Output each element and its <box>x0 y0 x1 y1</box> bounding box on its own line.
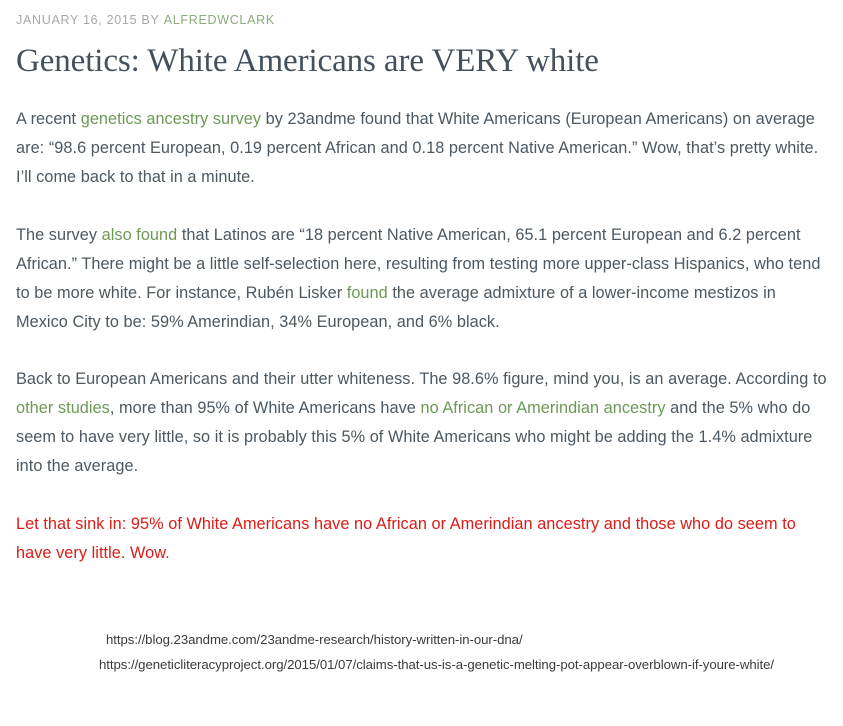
p3-text-a: Back to European Americans and their utt… <box>16 370 827 388</box>
entry-content: A recent genetics ancestry survey by 23a… <box>16 105 827 568</box>
paragraph-3: Back to European Americans and their utt… <box>16 365 827 481</box>
source-url-2: https://geneticliteracyproject.org/2015/… <box>99 652 827 677</box>
link-genetics-ancestry-survey[interactable]: genetics ancestry survey <box>81 110 261 128</box>
paragraph-1: A recent genetics ancestry survey by 23a… <box>16 105 827 192</box>
source-url-list: https://blog.23andme.com/23andme-researc… <box>16 627 827 677</box>
paragraph-4-emphasis: Let that sink in: 95% of White Americans… <box>16 510 827 568</box>
entry-meta: JANUARY 16, 2015 BY ALFREDWCLARK <box>16 0 827 28</box>
link-lisker-found[interactable]: found <box>347 284 388 302</box>
post-date: JANUARY 16, 2015 <box>16 13 137 27</box>
page-title: Genetics: White Americans are VERY white <box>16 41 827 81</box>
p2-text-a: The survey <box>16 226 102 244</box>
meta-by-word: BY <box>141 13 159 27</box>
blog-post-article: JANUARY 16, 2015 BY ALFREDWCLARK Genetic… <box>0 0 843 677</box>
link-other-studies[interactable]: other studies <box>16 399 110 417</box>
link-no-african-or-amerindian-ancestry[interactable]: no African or Amerindian ancestry <box>420 399 665 417</box>
paragraph-2: The survey also found that Latinos are “… <box>16 221 827 337</box>
post-author-link[interactable]: ALFREDWCLARK <box>164 13 275 27</box>
p1-text-a: A recent <box>16 110 81 128</box>
source-url-1: https://blog.23andme.com/23andme-researc… <box>106 627 827 652</box>
p3-text-b: , more than 95% of White Americans have <box>110 399 421 417</box>
link-also-found[interactable]: also found <box>102 226 178 244</box>
